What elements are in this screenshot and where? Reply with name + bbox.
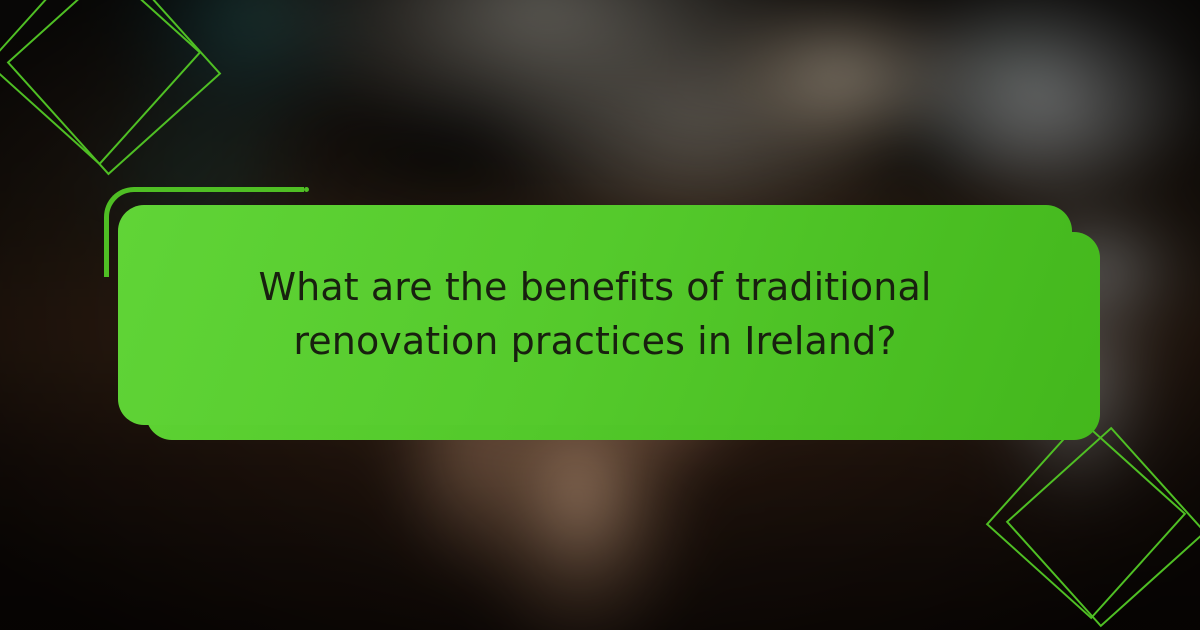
question-card: What are the benefits of traditional ren… xyxy=(118,205,1072,425)
social-card-canvas: What are the benefits of traditional ren… xyxy=(0,0,1200,630)
question-text: What are the benefits of traditional ren… xyxy=(118,261,1072,369)
